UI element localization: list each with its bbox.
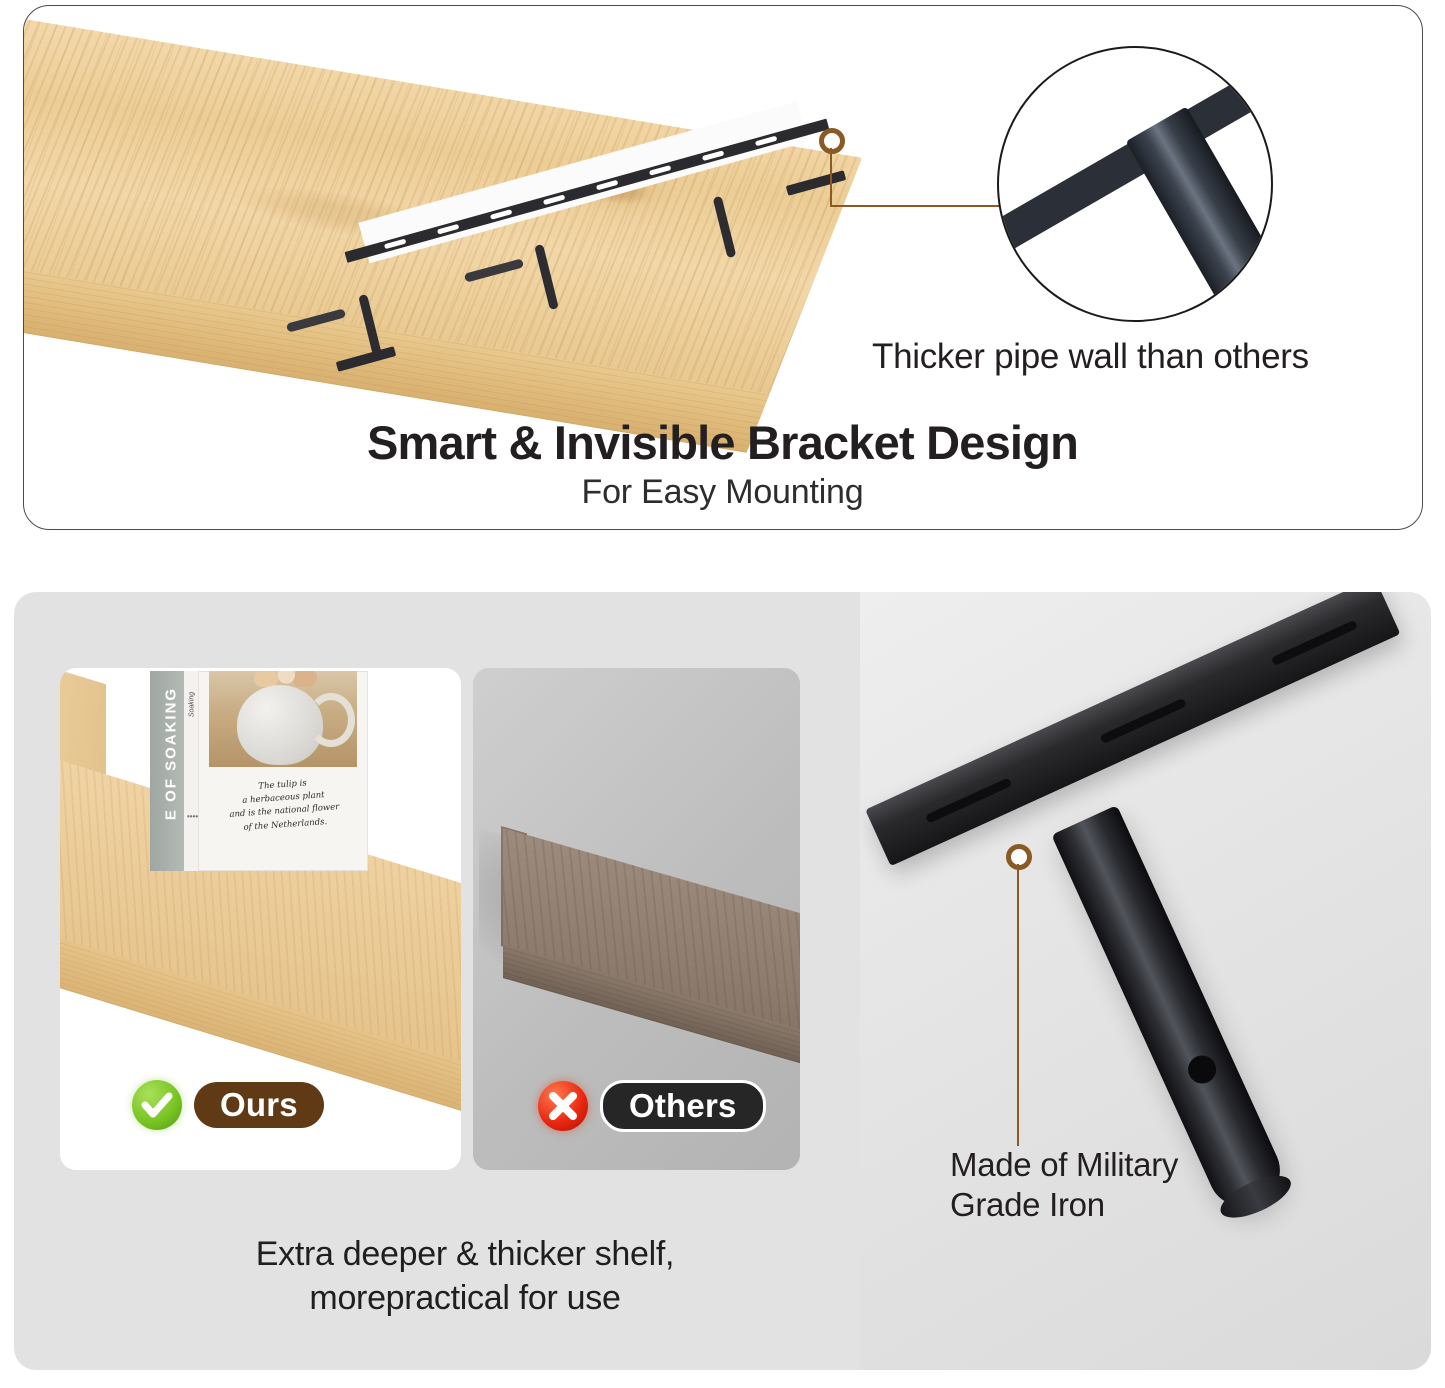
- bracket-flat-bar: [865, 592, 1400, 866]
- badge-ours: Ours: [132, 1080, 324, 1130]
- military-callout-line1: Made of Military: [950, 1145, 1280, 1185]
- badge-others: Others: [538, 1080, 766, 1132]
- bracket-bar-slot: [1100, 698, 1187, 744]
- closeup-pipe: [1126, 107, 1273, 323]
- shelf-drill-slot: [464, 258, 524, 282]
- bracket-pipe-hole: [1184, 1051, 1221, 1088]
- callout-leader-horizontal: [830, 205, 1025, 207]
- jug-handle-graphic: [307, 693, 355, 747]
- book-page-edge: Soaking ••••: [184, 671, 198, 871]
- military-callout-line2: Grade Iron: [950, 1185, 1280, 1225]
- page-subtitle: For Easy Mounting: [0, 473, 1445, 512]
- bracket-bar-slot: [1271, 620, 1358, 666]
- book-spine: E OF SOAKING: [150, 671, 184, 871]
- badge-others-label: Others: [600, 1080, 766, 1132]
- bracket-arm: [713, 196, 737, 258]
- comparison-caption: Extra deeper & thicker shelf, morepracti…: [100, 1232, 830, 1320]
- bracket-callout-leader: [1017, 864, 1019, 1146]
- thicker-pipe-callout-label: Thicker pipe wall than others: [872, 337, 1412, 377]
- wall-rail: [345, 119, 830, 263]
- bracket-assembly: [346, 126, 866, 386]
- page-title: Smart & Invisible Bracket Design: [0, 415, 1445, 470]
- book-edge-dots: ••••: [187, 813, 198, 820]
- pipe-closeup-magnifier: [997, 46, 1273, 322]
- rail-end-flange: [786, 170, 846, 196]
- x-circle-icon: [538, 1081, 588, 1131]
- badge-ours-label: Ours: [194, 1082, 324, 1128]
- bracket-product-photo: [860, 592, 1431, 1370]
- hero-shelf-image: [23, 14, 894, 414]
- military-grade-callout: Made of Military Grade Iron: [950, 1145, 1280, 1226]
- decorative-book: E OF SOAKING Soaking •••• The tulip is a…: [150, 671, 368, 871]
- bracket-arm: [534, 244, 559, 310]
- book-cover: The tulip is a herbaceous plant and is t…: [198, 671, 368, 871]
- bracket-bar-slot: [925, 777, 1012, 823]
- callout-marker-dot: [819, 128, 845, 154]
- book-cover-text: The tulip is a herbaceous plant and is t…: [206, 774, 361, 837]
- book-edge-script: Soaking: [189, 679, 196, 731]
- caption-line2: morepractical for use: [100, 1276, 830, 1320]
- callout-leader-vertical: [830, 148, 832, 206]
- check-circle-icon: [132, 1080, 182, 1130]
- book-spine-title: E OF SOAKING: [163, 679, 180, 829]
- bracket-callout-marker-dot: [1006, 844, 1032, 870]
- caption-line1: Extra deeper & thicker shelf,: [100, 1232, 830, 1276]
- book-cover-photo: [209, 671, 357, 767]
